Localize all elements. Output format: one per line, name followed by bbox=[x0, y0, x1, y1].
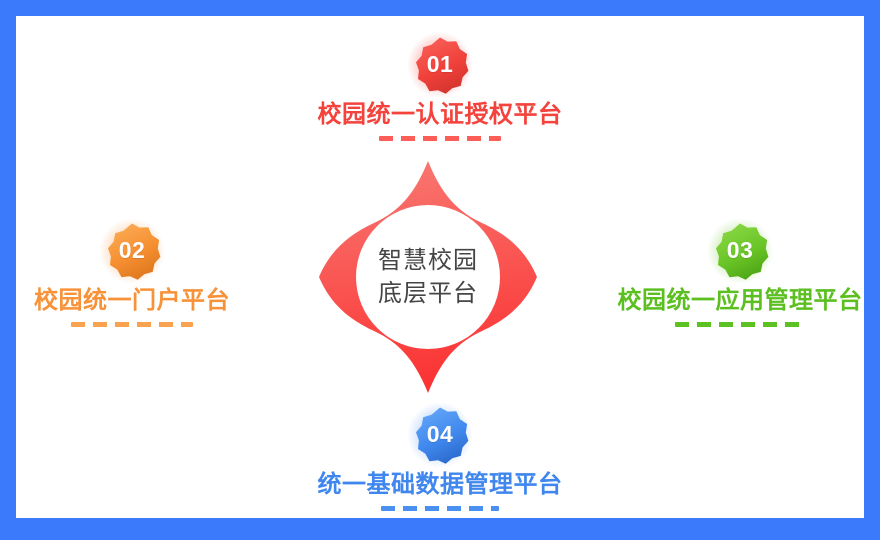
node-02-underline bbox=[71, 322, 193, 327]
node-03-title: 校园统一应用管理平台 bbox=[618, 285, 863, 315]
center-label-line2: 底层平台 bbox=[378, 277, 478, 310]
diagram-frame: 智慧校园 底层平台 bbox=[0, 0, 880, 540]
node-01-badge[interactable]: 01 bbox=[407, 32, 473, 98]
node-02-title: 校园统一门户平台 bbox=[34, 285, 230, 315]
center-label-line1: 智慧校园 bbox=[378, 244, 478, 277]
node-01-underline bbox=[379, 136, 501, 141]
node-03-number: 03 bbox=[727, 239, 754, 263]
center-platform-ring: 智慧校园 底层平台 bbox=[310, 159, 546, 395]
diagram-canvas: 智慧校园 底层平台 bbox=[16, 16, 864, 518]
center-platform-label: 智慧校园 底层平台 bbox=[310, 159, 546, 395]
node-01[interactable]: 01 校园统一认证授权平台 bbox=[262, 32, 618, 141]
node-04-number: 04 bbox=[427, 423, 454, 447]
node-03[interactable]: 03 校园统一应用管理平台 bbox=[562, 218, 864, 327]
node-02[interactable]: 02 校园统一门户平台 bbox=[16, 218, 310, 327]
node-04-title: 统一基础数据管理平台 bbox=[318, 469, 563, 499]
node-02-badge[interactable]: 02 bbox=[99, 218, 165, 284]
node-04[interactable]: 04 统一基础数据管理平台 bbox=[262, 402, 618, 511]
node-04-badge[interactable]: 04 bbox=[407, 402, 473, 468]
node-01-number: 01 bbox=[427, 53, 454, 77]
node-02-number: 02 bbox=[119, 239, 146, 263]
node-03-underline bbox=[675, 322, 805, 327]
node-04-underline bbox=[381, 506, 499, 511]
node-01-title: 校园统一认证授权平台 bbox=[318, 99, 563, 129]
node-03-badge[interactable]: 03 bbox=[707, 218, 773, 284]
